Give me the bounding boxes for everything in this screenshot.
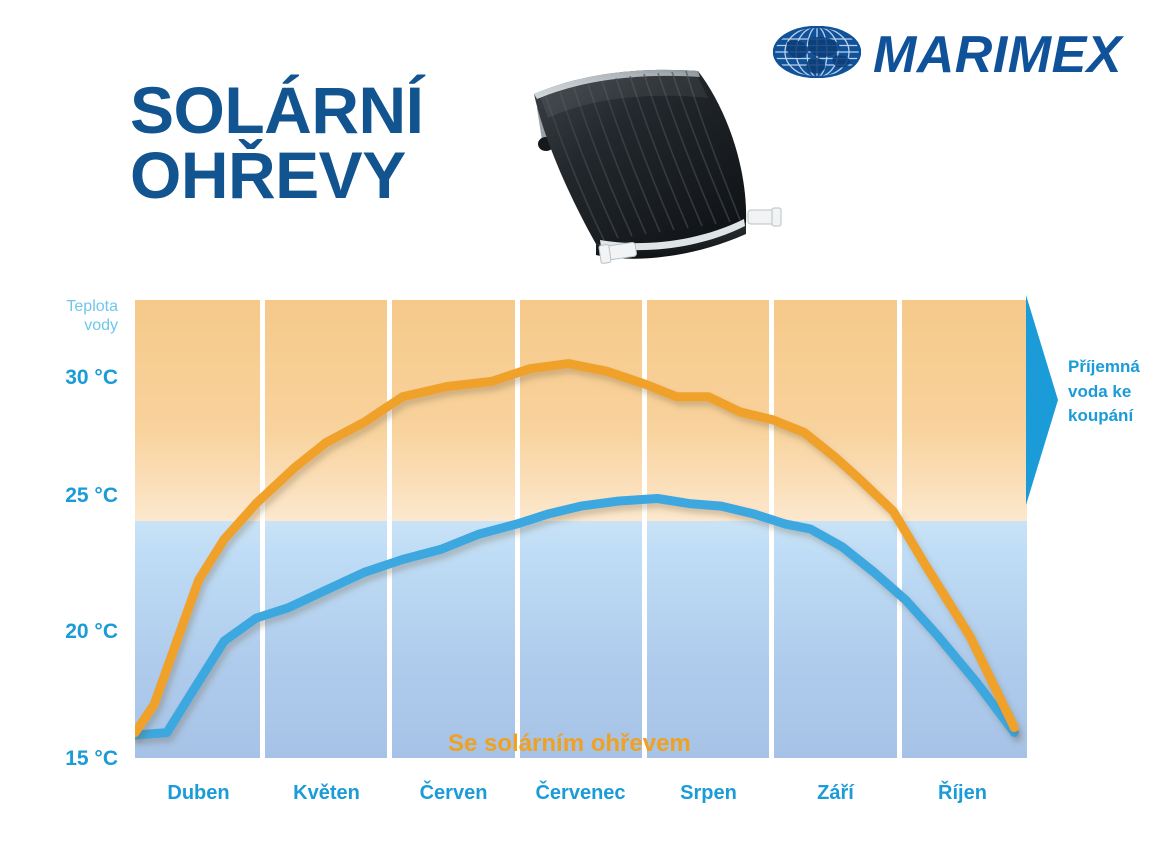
comfort-range-line-1: Příjemná xyxy=(1068,355,1170,380)
y-axis-caption-line-1: Teplota xyxy=(0,297,118,316)
comfort-range-line-3: koupání xyxy=(1068,404,1170,429)
x-tick-label-duben: Duben xyxy=(135,783,262,803)
page-title-line-2: OHŘEVY xyxy=(130,143,550,208)
water-temperature-chart: Teplota vody 30 °C 25 °C 20 °C 15 °C xyxy=(0,283,1170,843)
x-tick-label-rijen: Říjen xyxy=(899,783,1026,803)
y-tick-label-25: 25 °C xyxy=(0,485,118,506)
series-lines xyxy=(135,300,1027,758)
y-axis-caption: Teplota vody xyxy=(0,297,118,335)
x-tick-label-cervenec: Červenec xyxy=(517,783,644,803)
y-tick-label-20: 20 °C xyxy=(0,621,118,642)
x-tick-label-cerven: Červen xyxy=(390,783,517,803)
y-tick-label-30: 30 °C xyxy=(0,367,118,388)
page-title: SOLÁRNÍ OHŘEVY xyxy=(130,78,550,207)
brand-name: MARIMEX xyxy=(873,29,1122,81)
right-arrow-icon xyxy=(1024,295,1064,505)
y-tick-label-15: 15 °C xyxy=(0,748,118,769)
page-title-line-1: SOLÁRNÍ xyxy=(130,73,424,147)
comfort-range-label: Příjemná voda ke koupání xyxy=(1068,355,1170,429)
y-axis-caption-line-2: vody xyxy=(0,316,118,335)
series-line-bez-ohrevu xyxy=(135,499,1014,736)
chart-plot-area xyxy=(135,300,1027,758)
x-tick-label-srpen: Srpen xyxy=(645,783,772,803)
comfort-range-line-2: voda ke xyxy=(1068,380,1170,405)
series-line-se-solarnim-ohrevem xyxy=(135,364,1014,733)
comfort-range-annotation: Příjemná voda ke koupání xyxy=(1024,295,1170,505)
series-label-se-solarnim-ohrevem: Se solárním ohřevem xyxy=(448,730,691,758)
x-tick-label-kveten: Květen xyxy=(263,783,390,803)
solar-heater-panel-image xyxy=(500,48,830,283)
infographic-page: SOLÁRNÍ OHŘEVY xyxy=(0,0,1170,860)
x-tick-label-zari: Září xyxy=(772,783,899,803)
